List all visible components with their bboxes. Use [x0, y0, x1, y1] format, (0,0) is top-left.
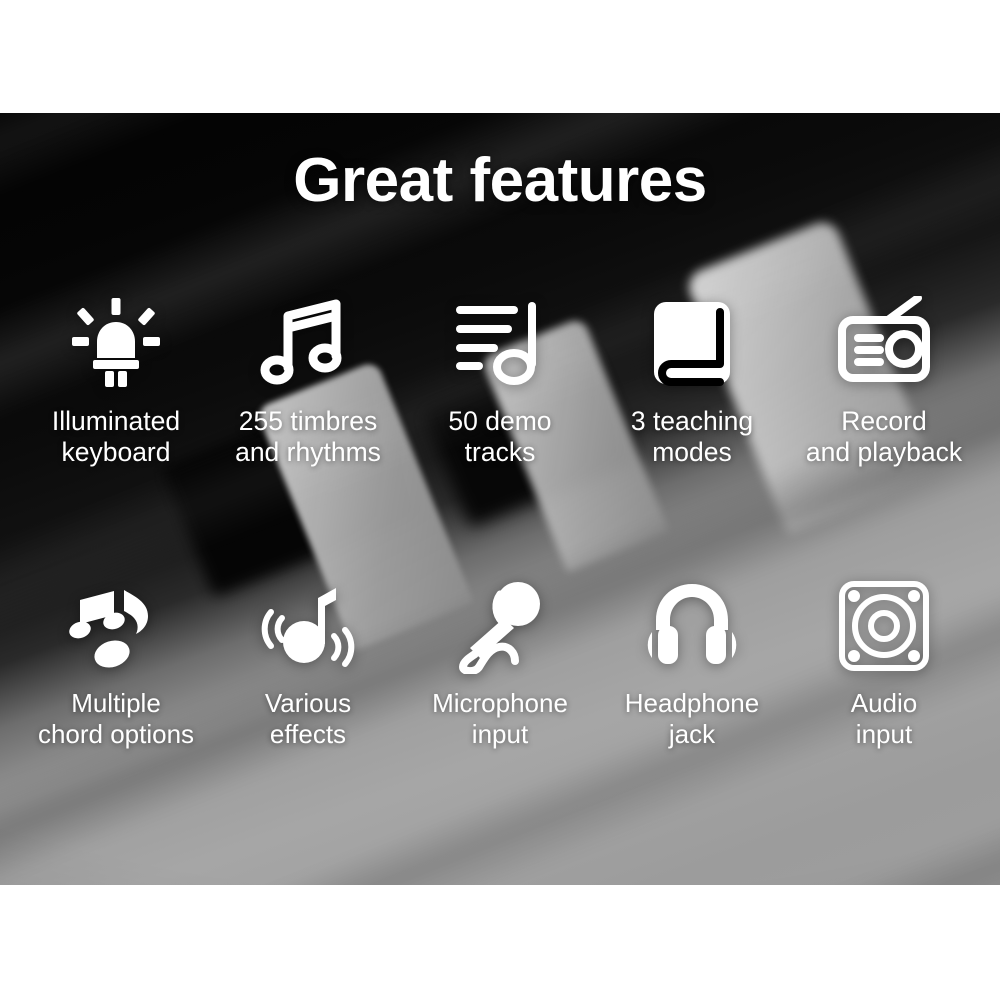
feature-label: 50 demo tracks — [448, 406, 551, 469]
led-bulb-icon — [68, 296, 164, 392]
note-sound-waves-icon — [260, 578, 356, 674]
music-notes-icon — [68, 578, 164, 674]
feature-label: 3 teaching modes — [631, 406, 753, 469]
headphones-icon — [644, 578, 740, 674]
feature-label: Record and playback — [806, 406, 962, 469]
feature-item-microphone-input: Microphone input — [404, 578, 596, 749]
microphone-icon — [452, 578, 548, 674]
feature-item-chord-options: Multiple chord options — [20, 578, 212, 749]
feature-item-timbres-rhythms: 255 timbres and rhythms — [212, 296, 404, 469]
speaker-square-icon — [836, 578, 932, 674]
book-icon — [644, 296, 740, 392]
feature-label: Audio input — [851, 688, 918, 749]
feature-label: Microphone input — [432, 688, 568, 749]
feature-item-demo-tracks: 50 demo tracks — [404, 296, 596, 469]
page-title: Great features — [0, 150, 1000, 212]
feature-item-various-effects: Various effects — [212, 578, 404, 749]
feature-label: Illuminated keyboard — [52, 406, 180, 469]
feature-row-2: Multiple chord options — [20, 578, 980, 749]
beamed-eighth-notes-icon — [260, 296, 356, 392]
feature-label: 255 timbres and rhythms — [235, 406, 381, 469]
feature-label: Multiple chord options — [38, 688, 194, 749]
feature-label: Various effects — [265, 688, 351, 749]
feature-item-record-playback: Record and playback — [788, 296, 980, 469]
feature-item-audio-input: Audio input — [788, 578, 980, 749]
feature-row-1: Illuminated keyboard 255 timbres and rhy… — [20, 296, 980, 469]
feature-item-headphone-jack: Headphone jack — [596, 578, 788, 749]
demo-tracks-note-icon — [452, 296, 548, 392]
feature-banner: Great features I — [0, 0, 1000, 1000]
feature-item-illuminated-keyboard: Illuminated keyboard — [20, 296, 212, 469]
feature-item-teaching-modes: 3 teaching modes — [596, 296, 788, 469]
radio-icon — [836, 296, 932, 392]
feature-label: Headphone jack — [625, 688, 759, 749]
